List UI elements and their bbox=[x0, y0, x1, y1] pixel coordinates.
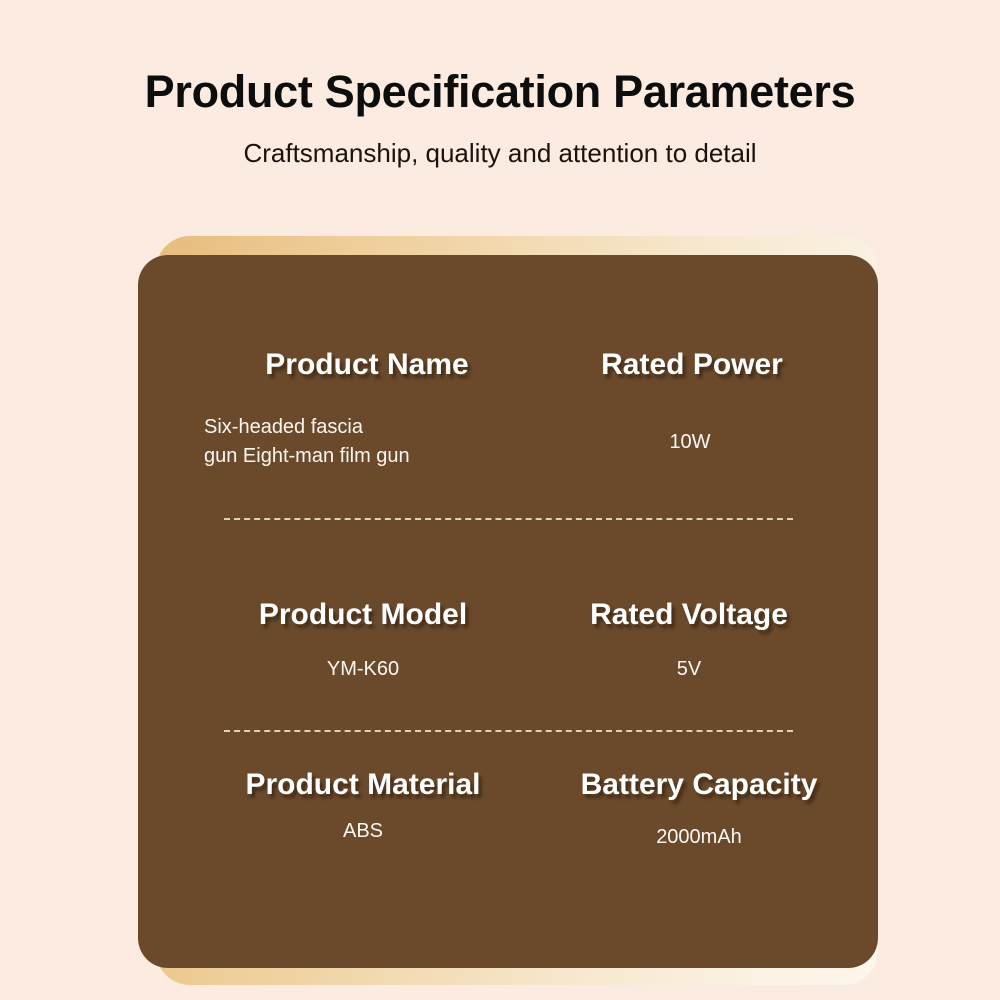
spec-label: Rated Voltage bbox=[528, 599, 848, 631]
spec-label: Battery Capacity bbox=[528, 769, 848, 801]
spec-table: Product Name Six-headed fasciagun Eight-… bbox=[138, 255, 878, 968]
spec-value: 10W bbox=[528, 381, 848, 458]
spec-card-stack: Product Name Six-headed fasciagun Eight-… bbox=[138, 236, 878, 986]
spec-row: Product Name Six-headed fasciagun Eight-… bbox=[138, 349, 878, 529]
spec-value: 2000mAh bbox=[528, 801, 848, 853]
spec-cell-battery-capacity: Battery Capacity 2000mAh bbox=[528, 769, 848, 909]
spec-label: Product Material bbox=[198, 769, 528, 801]
spec-value: Six-headed fasciagun Eight-man film gun bbox=[198, 381, 528, 472]
page-subtitle: Craftsmanship, quality and attention to … bbox=[0, 117, 1000, 168]
page-header: Product Specification Parameters Craftsm… bbox=[0, 0, 1000, 167]
spec-label: Rated Power bbox=[528, 349, 848, 381]
spec-label: Product Name bbox=[198, 349, 528, 381]
spec-cell-rated-power: Rated Power 10W bbox=[528, 349, 848, 529]
spec-card: Product Name Six-headed fasciagun Eight-… bbox=[138, 255, 878, 968]
spec-cell-rated-voltage: Rated Voltage 5V bbox=[528, 599, 848, 749]
spec-value: ABS bbox=[198, 801, 528, 847]
spec-divider bbox=[224, 518, 793, 520]
spec-row: Product Material ABS Battery Capacity 20… bbox=[138, 769, 878, 909]
page-title: Product Specification Parameters bbox=[0, 0, 1000, 117]
spec-value: 5V bbox=[528, 631, 848, 685]
spec-divider bbox=[224, 730, 793, 732]
spec-cell-product-name: Product Name Six-headed fasciagun Eight-… bbox=[198, 349, 528, 529]
spec-row: Product Model YM-K60 Rated Voltage 5V bbox=[138, 599, 878, 749]
spec-cell-product-model: Product Model YM-K60 bbox=[198, 599, 528, 749]
spec-label: Product Model bbox=[198, 599, 528, 631]
spec-cell-product-material: Product Material ABS bbox=[198, 769, 528, 909]
spec-value: YM-K60 bbox=[198, 631, 528, 685]
